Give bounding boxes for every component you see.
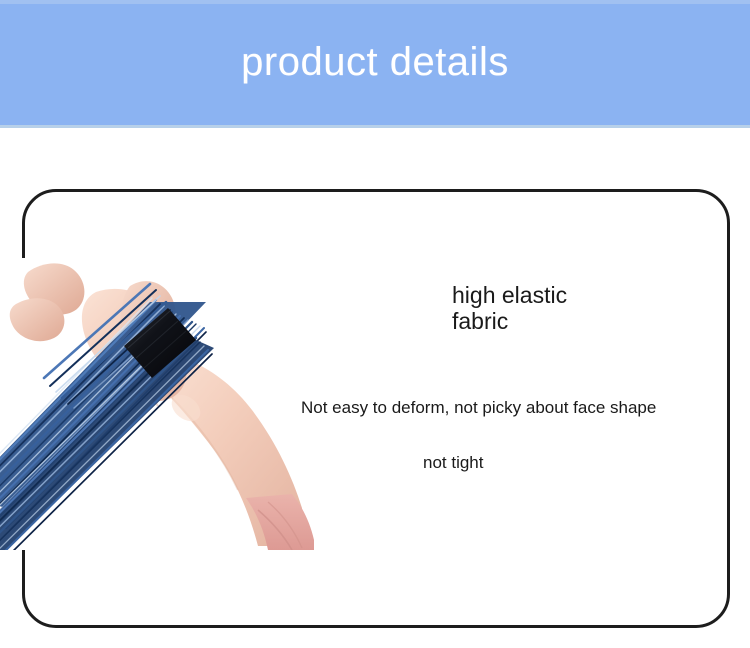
banner-bottom-edge xyxy=(0,125,750,128)
tagline-text: not tight xyxy=(423,453,484,473)
headline-text: high elastic fabric xyxy=(452,283,692,335)
product-details-page: product details xyxy=(0,0,750,648)
subline-text: Not easy to deform, not picky about face… xyxy=(301,398,731,418)
page-title: product details xyxy=(0,0,750,128)
page-banner: product details xyxy=(0,0,750,128)
